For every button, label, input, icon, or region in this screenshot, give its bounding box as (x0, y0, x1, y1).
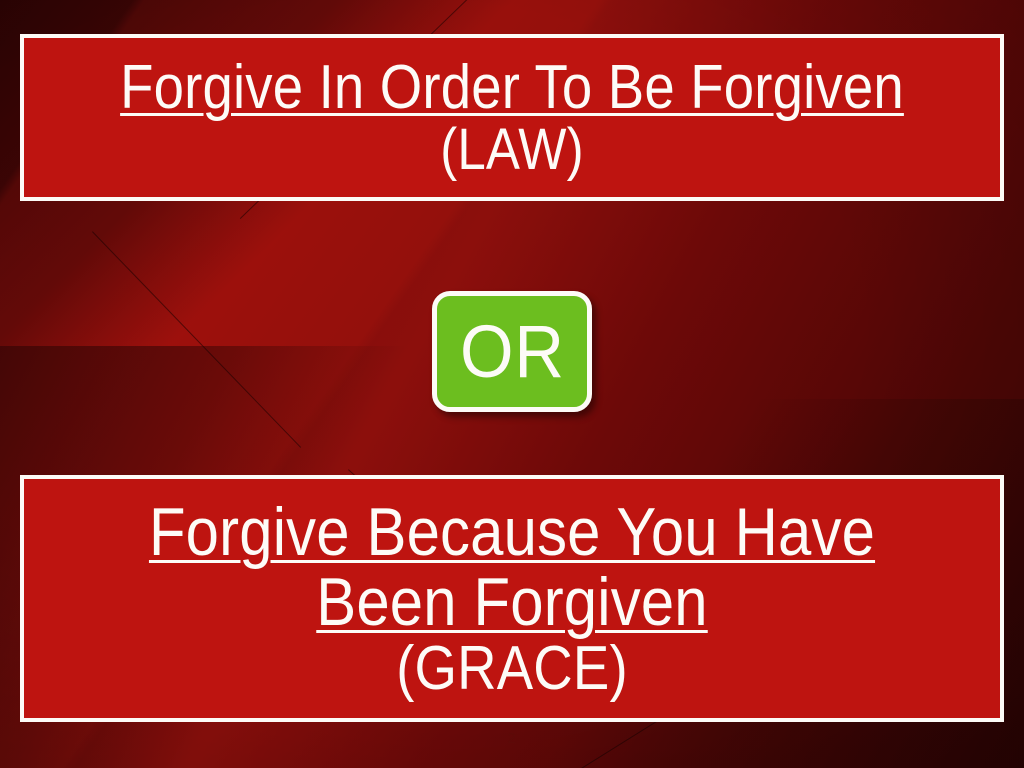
law-statement-subtitle: (LAW) (95, 120, 929, 180)
grace-statement-heading: Forgive Because You Have Been Forgiven (95, 497, 929, 637)
law-statement-heading: Forgive In Order To Be Forgiven (95, 56, 929, 120)
presentation-slide: Forgive In Order To Be Forgiven (LAW) OR… (0, 0, 1024, 768)
grace-statement-box: Forgive Because You Have Been Forgiven (… (20, 475, 1004, 722)
law-statement-box: Forgive In Order To Be Forgiven (LAW) (20, 34, 1004, 201)
grace-statement-subtitle: (GRACE) (95, 637, 929, 701)
or-connector-badge: OR (432, 291, 592, 412)
slide-number: 2 (0, 730, 1024, 747)
or-badge-label: OR (459, 315, 564, 389)
